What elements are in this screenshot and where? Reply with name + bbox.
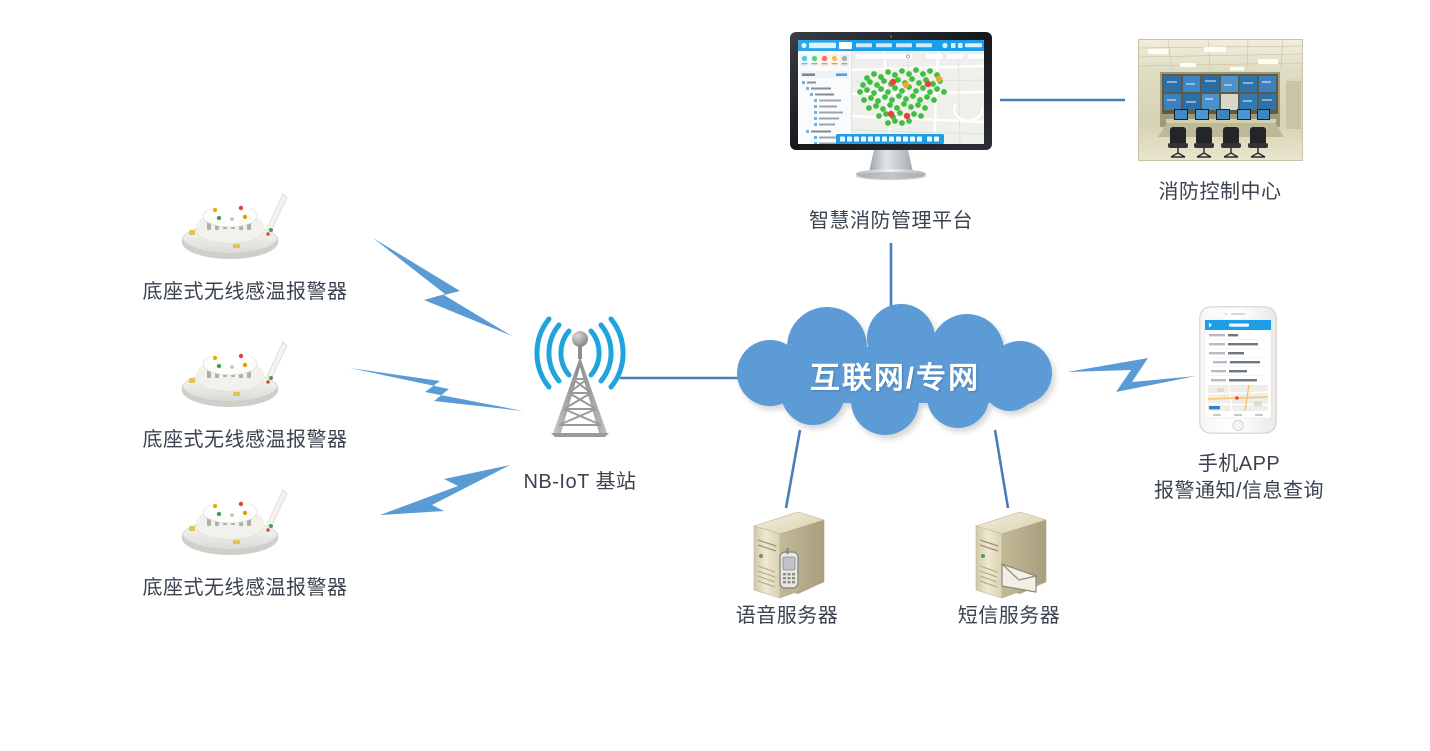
smartphone-icon (1199, 306, 1277, 434)
voice-server-label: 语音服务器 (687, 602, 887, 630)
sensor-3-label: 底座式无线感温报警器 (95, 574, 395, 602)
heat-detector-icon (175, 334, 295, 412)
sensor-1[interactable] (175, 186, 295, 264)
nb-iot-base-station-label: NB-IoT 基站 (480, 468, 680, 496)
fire-control-center-label: 消防控制中心 (1120, 178, 1320, 206)
voice-server[interactable] (744, 506, 830, 604)
link-cloud-to-voice-server (786, 430, 800, 508)
voice-server-icon (744, 506, 830, 604)
link-cloud-to-sms-server (995, 430, 1008, 508)
nb-iot-base-station[interactable] (525, 315, 635, 445)
management-platform-label: 智慧消防管理平台 (791, 207, 991, 235)
management-platform[interactable] (788, 30, 994, 180)
bolt-cloud-to-mobile-app (1067, 358, 1196, 392)
control-room-photo (1138, 39, 1303, 161)
tower-icon (525, 315, 635, 445)
network-cloud[interactable]: 互联网/专网 (715, 305, 1075, 435)
mobile-app[interactable] (1199, 306, 1277, 434)
sensor-2-label: 底座式无线感温报警器 (95, 426, 395, 454)
heat-detector-icon (175, 482, 295, 560)
sms-server[interactable] (966, 506, 1052, 604)
sms-server-icon (966, 506, 1052, 604)
sensor-2[interactable] (175, 334, 295, 412)
desktop-monitor-icon (788, 30, 994, 180)
sms-server-label: 短信服务器 (909, 602, 1109, 630)
bolt-sensor-2-to-base-station (350, 368, 523, 411)
mobile-app-label-line1: 手机APP (1139, 450, 1339, 478)
mobile-app-label-line2: 报警通知/信息查询 (1139, 477, 1339, 505)
heat-detector-icon (175, 186, 295, 264)
cloud-label: 互联网/专网 (715, 353, 1075, 397)
diagram-canvas: 互联网/专网 (0, 0, 1430, 751)
sensor-3[interactable] (175, 482, 295, 560)
fire-control-center[interactable] (1138, 39, 1303, 161)
sensor-1-label: 底座式无线感温报警器 (95, 278, 395, 306)
